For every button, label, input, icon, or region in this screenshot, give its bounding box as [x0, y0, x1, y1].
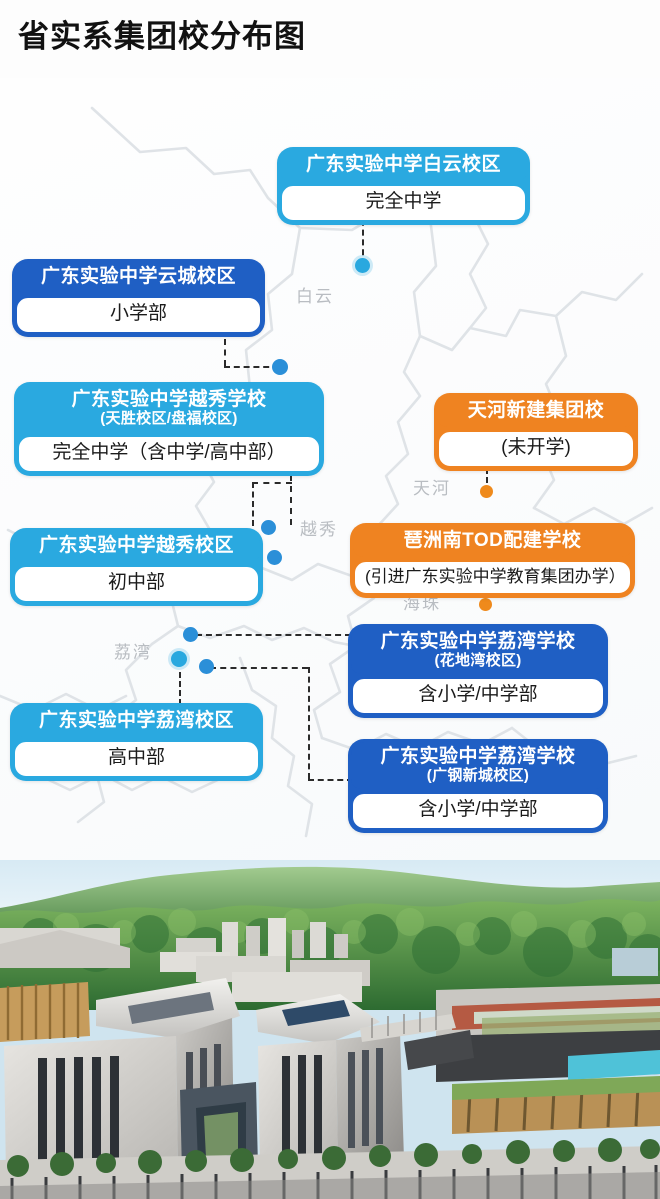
callout-yuncheng-campus[interactable]: 广东实验中学云城校区 小学部 [12, 259, 265, 337]
map-marker-yuexiu-school[interactable] [272, 359, 288, 375]
callout-header: 广东实验中学荔湾学校 (广钢新城校区) [351, 742, 605, 789]
liwan-connector-line [179, 672, 181, 705]
school-campus-aerial-photo [0, 860, 660, 1199]
callout-liwan-huadiwan-school[interactable]: 广东实验中学荔湾学校 (花地湾校区) 含小学/中学部 [348, 624, 608, 718]
callout-baiyun-campus[interactable]: 广东实验中学白云校区 完全中学 [277, 147, 530, 225]
infographic-root: 省实系集团校分布图 [0, 0, 660, 1199]
callout-body: 完全中学（含中学/高中部） [17, 435, 321, 473]
callout-header: 琶洲南TOD配建学校 [353, 526, 632, 557]
callout-liwan-guanggang-school[interactable]: 广东实验中学荔湾学校 (广钢新城校区) 含小学/中学部 [348, 739, 608, 833]
yuexiu-connector-line [252, 482, 254, 526]
page-title: 省实系集团校分布图 [18, 18, 306, 55]
photo-content [0, 860, 660, 1199]
callout-header: 广东实验中学云城校区 [15, 262, 262, 293]
district-label: 越秀 [300, 515, 338, 540]
callout-header: 广东实验中学白云校区 [280, 150, 527, 181]
callout-body: 高中部 [13, 740, 260, 778]
callout-pazhou-tod-school[interactable]: 琶洲南TOD配建学校 (引进广东实验中学教育集团办学） [350, 523, 635, 598]
callout-header: 广东实验中学越秀学校 (天胜校区/盘福校区) [17, 385, 321, 432]
district-label: 天河 [413, 474, 451, 499]
callout-header: 广东实验中学荔湾校区 [13, 706, 260, 737]
callout-header: 广东实验中学荔湾学校 (花地湾校区) [351, 627, 605, 674]
callout-header: 广东实验中学越秀校区 [13, 531, 260, 562]
yuexiu-connector-line [290, 475, 292, 525]
callout-body: 初中部 [13, 565, 260, 603]
guanggang-connector-line [308, 667, 310, 779]
map-marker-liwan-huadiwan[interactable] [183, 627, 198, 642]
callout-yuexiu-school[interactable]: 广东实验中学越秀学校 (天胜校区/盘福校区) 完全中学（含中学/高中部） [14, 382, 324, 476]
map-marker-baiyun-campus[interactable] [355, 258, 370, 273]
yuncheng-connector-line [224, 366, 279, 368]
guanggang-connector-line [210, 667, 308, 669]
callout-body: 小学部 [15, 296, 262, 334]
callout-body: 完全中学 [280, 184, 527, 222]
huadiwan-connector-line [196, 634, 351, 636]
map-marker-liwan-campus[interactable] [171, 651, 187, 667]
yuexiu-connector-line [252, 482, 292, 484]
callout-body: 含小学/中学部 [351, 792, 605, 830]
map-marker-pazhou-tod[interactable] [479, 598, 492, 611]
callout-body: (未开学) [437, 430, 635, 468]
district-label: 白云 [296, 282, 334, 307]
callout-liwan-campus[interactable]: 广东实验中学荔湾校区 高中部 [10, 703, 263, 781]
callout-body: (引进广东实验中学教育集团办学） [353, 560, 632, 595]
callout-body: 含小学/中学部 [351, 677, 605, 715]
map-marker-tianhe-new-school[interactable] [480, 485, 493, 498]
map-marker-liwan-guanggang[interactable] [199, 659, 214, 674]
callout-header: 天河新建集团校 [437, 396, 635, 427]
map-marker-yuexiu-campus[interactable] [261, 520, 276, 535]
guanggang-connector-line [308, 779, 353, 781]
map-marker-yuexiu-campus-alt[interactable] [267, 550, 282, 565]
callout-yuexiu-campus[interactable]: 广东实验中学越秀校区 初中部 [10, 528, 263, 606]
callout-tianhe-new-school[interactable]: 天河新建集团校 (未开学) [434, 393, 638, 471]
district-label: 荔湾 [114, 638, 152, 663]
